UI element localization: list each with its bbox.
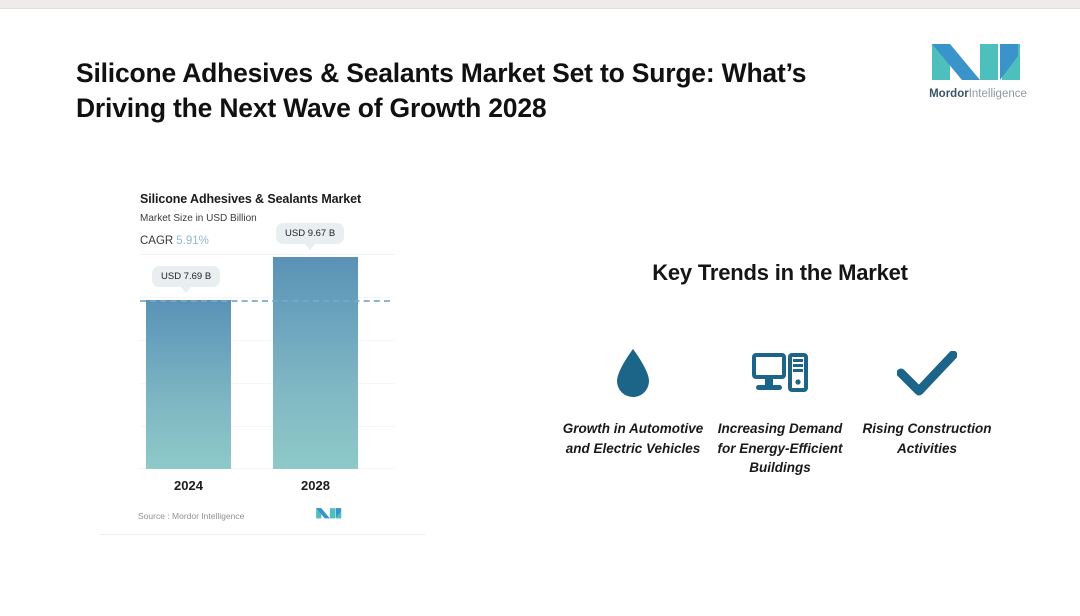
brand-wordmark: MordorIntelligence [928, 89, 1028, 101]
chart-source-label: Source : Mordor Intelligence [138, 511, 244, 521]
plot-top-axis [140, 254, 395, 255]
chart-cagr: CAGR5.91% [140, 235, 209, 247]
page-title: Silicone Adhesives & Sealants Market Set… [76, 56, 876, 126]
bar-2028[interactable] [273, 257, 358, 469]
trend-label-3: Rising Construction Activities [854, 419, 1000, 458]
x-axis-label-2028: 2028 [273, 478, 358, 493]
trend-item-3: Rising Construction Activities [854, 345, 1000, 458]
x-axis-label-2024: 2024 [146, 478, 231, 493]
key-trends-row: Growth in Automotive and Electric Vehicl… [560, 345, 1000, 478]
source-mordor-m-logo-icon [315, 505, 343, 521]
brand-name-light: Intelligence [969, 88, 1027, 100]
chart-title: Silicone Adhesives & Sealants Market [140, 192, 361, 206]
mordor-m-logo-icon [928, 36, 1026, 86]
chart-plot-area: USD 7.69 B USD 9.67 B 2024 2028 [140, 254, 395, 469]
desktop-computer-icon [752, 345, 808, 403]
water-droplet-icon [614, 345, 652, 403]
brand-name-bold: Mordor [929, 88, 969, 100]
brand-logo: MordorIntelligence [928, 36, 1028, 101]
chart-subtitle: Market Size in USD Billion [140, 213, 257, 224]
trend-label-1: Growth in Automotive and Electric Vehicl… [560, 419, 706, 458]
reference-dash-line [140, 300, 390, 302]
top-strip [0, 0, 1080, 9]
value-bubble-2028: USD 9.67 B [276, 223, 344, 244]
trend-label-2: Increasing Demand for Energy-Efficient B… [707, 419, 853, 478]
bar-2024[interactable] [146, 300, 231, 469]
market-size-chart-card: Silicone Adhesives & Sealants Market Mar… [100, 172, 425, 535]
checkmark-icon [897, 345, 957, 403]
value-bubble-2024: USD 7.69 B [152, 266, 220, 287]
trend-item-1: Growth in Automotive and Electric Vehicl… [560, 345, 706, 458]
chart-cagr-label: CAGR [140, 235, 173, 247]
chart-cagr-value: 5.91% [173, 235, 209, 247]
key-trends-title: Key Trends in the Market [560, 260, 1000, 286]
trend-item-2: Increasing Demand for Energy-Efficient B… [707, 345, 853, 478]
